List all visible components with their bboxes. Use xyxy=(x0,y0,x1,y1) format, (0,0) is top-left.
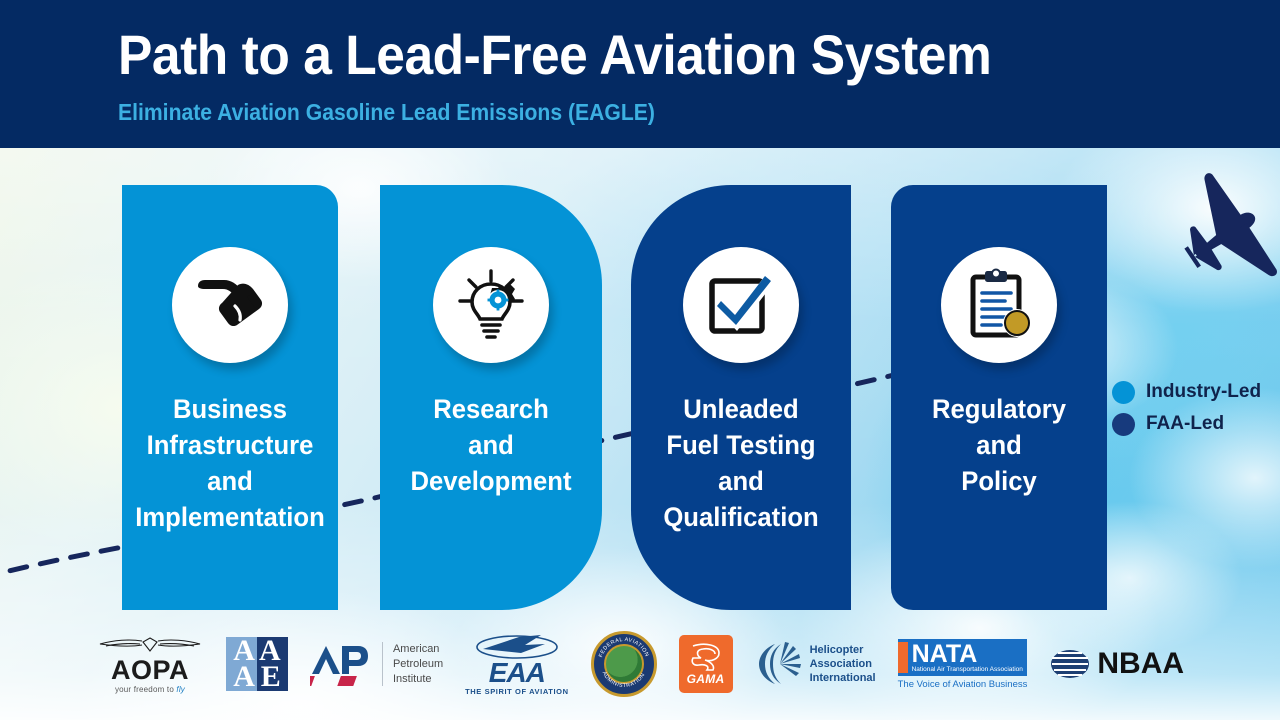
pillar-line: and xyxy=(896,427,1101,463)
pillar-icon-wrapper xyxy=(683,247,799,363)
api-line-2: Petroleum xyxy=(393,657,443,672)
api-line-3: Institute xyxy=(393,672,443,687)
nata-tagline: The Voice of Aviation Business xyxy=(898,679,1028,690)
gama-swirl-icon xyxy=(689,642,723,672)
logo-gama: GAMA xyxy=(679,629,733,699)
page-title: Path to a Lead-Free Aviation System xyxy=(118,24,991,86)
pillar-line: Research xyxy=(386,391,597,427)
fuel-nozzle-icon xyxy=(191,266,269,344)
svg-text:FEDERAL AVIATION: FEDERAL AVIATION xyxy=(598,637,650,658)
nata-subtitle: National Air Transportation Association xyxy=(912,666,1023,673)
nata-mark: NATA National Air Transportation Associa… xyxy=(898,639,1027,676)
clipboard-seal-icon xyxy=(960,266,1038,344)
page-subtitle: Eliminate Aviation Gasoline Lead Emissio… xyxy=(118,98,655,126)
nbaa-wordmark: NBAA xyxy=(1097,647,1184,681)
logo-aopa: AOPA your freedom to fly xyxy=(96,629,204,699)
api-divider xyxy=(382,642,383,686)
gama-wordmark: GAMA xyxy=(687,672,725,686)
aopa-tagline: your freedom to fly xyxy=(115,685,185,694)
logo-eaa: EAA THE SPIRIT OF AVIATION xyxy=(465,629,568,699)
pillar-label-regulatory-policy: Regulatory and Policy xyxy=(891,391,1107,499)
pillar-line: Fuel Testing xyxy=(637,427,846,463)
pillar-line: and xyxy=(127,463,332,499)
pillar-line: Regulatory xyxy=(896,391,1101,427)
pillar-card-unleaded-fuel-testing[interactable]: Unleaded Fuel Testing and Qualification xyxy=(631,185,851,610)
logo-hai: Helicopter Association International xyxy=(755,629,876,699)
checkbox-check-icon xyxy=(701,267,781,343)
logo-nata: NATA National Air Transportation Associa… xyxy=(898,629,1028,699)
gama-mark: GAMA xyxy=(679,635,733,693)
eaa-tagline: THE SPIRIT OF AVIATION xyxy=(465,687,568,696)
hai-line-1: Helicopter xyxy=(810,643,876,657)
pillar-card-regulatory-policy[interactable]: Regulatory and Policy xyxy=(891,185,1107,610)
hai-globe-icon xyxy=(755,640,803,688)
pillar-line: Development xyxy=(386,463,597,499)
eaa-wordmark: EAA xyxy=(489,659,545,687)
aaae-mark: A A A E xyxy=(226,637,288,691)
nbaa-globe-icon xyxy=(1049,644,1091,684)
legend-label-industry: Industry-Led xyxy=(1146,381,1261,403)
aopa-tagline-em: fly xyxy=(176,685,185,694)
pillar-line: Policy xyxy=(896,463,1101,499)
pillar-icon-wrapper xyxy=(172,247,288,363)
pillar-line: Implementation xyxy=(127,499,332,535)
pillar-label-unleaded-fuel-testing: Unleaded Fuel Testing and Qualification xyxy=(631,391,851,535)
pillar-line: and xyxy=(637,463,846,499)
pillar-line: Qualification xyxy=(637,499,846,535)
api-name-block: American Petroleum Institute xyxy=(393,642,443,687)
nata-wordmark: NATA xyxy=(912,642,1023,666)
legend-dot-faa xyxy=(1112,413,1135,436)
pillar-card-research-development[interactable]: Research and Development xyxy=(380,185,602,610)
legend-item-industry: Industry-Led xyxy=(1112,376,1272,408)
pillar-line: Infrastructure xyxy=(127,427,332,463)
aopa-wordmark: AOPA xyxy=(111,656,189,684)
pillar-label-research-development: Research and Development xyxy=(380,391,602,499)
pillar-card-business-infrastructure[interactable]: Business Infrastructure and Implementati… xyxy=(122,185,338,610)
infographic-root: Path to a Lead-Free Aviation System Elim… xyxy=(0,0,1280,720)
pillar-label-business-infrastructure: Business Infrastructure and Implementati… xyxy=(122,391,338,535)
logo-faa: FEDERAL AVIATION ADMINISTRATION xyxy=(591,629,657,699)
nata-accent-bar xyxy=(898,642,908,673)
pillar-icon-wrapper xyxy=(433,247,549,363)
legend-item-faa: FAA-Led xyxy=(1112,408,1272,440)
aaae-line-2: A E xyxy=(233,664,281,690)
aopa-tagline-pre: your freedom to xyxy=(115,685,176,694)
eaa-swoosh-icon xyxy=(475,633,559,659)
header-banner: Path to a Lead-Free Aviation System Elim… xyxy=(0,0,1280,148)
pillar-line: Unleaded xyxy=(637,391,846,427)
logo-api: American Petroleum Institute xyxy=(310,629,443,699)
airplane-icon xyxy=(1157,165,1280,309)
pillar-icon-wrapper xyxy=(941,247,1057,363)
faa-seal-icon: FEDERAL AVIATION ADMINISTRATION xyxy=(591,631,657,697)
hai-name-block: Helicopter Association International xyxy=(810,643,876,685)
pillar-line: and xyxy=(386,427,597,463)
legend-label-faa: FAA-Led xyxy=(1146,413,1224,435)
legend: Industry-Led FAA-Led xyxy=(1112,376,1272,440)
svg-text:ADMINISTRATION: ADMINISTRATION xyxy=(600,671,646,689)
aopa-wings-icon xyxy=(96,635,204,655)
pillar-line: Business xyxy=(127,391,332,427)
api-mark-icon xyxy=(310,640,372,688)
faa-ring-label: FEDERAL AVIATION ADMINISTRATION xyxy=(594,634,654,694)
lightbulb-gear-icon xyxy=(451,265,531,345)
hai-line-3: International xyxy=(810,671,876,685)
legend-dot-industry xyxy=(1112,381,1135,404)
logo-aaae: A A A E xyxy=(226,629,288,699)
api-line-1: American xyxy=(393,642,443,657)
partner-logo-strip: AOPA your freedom to fly A A A E xyxy=(0,622,1280,706)
logo-nbaa: NBAA xyxy=(1049,629,1184,699)
hai-line-2: Association xyxy=(810,657,876,671)
